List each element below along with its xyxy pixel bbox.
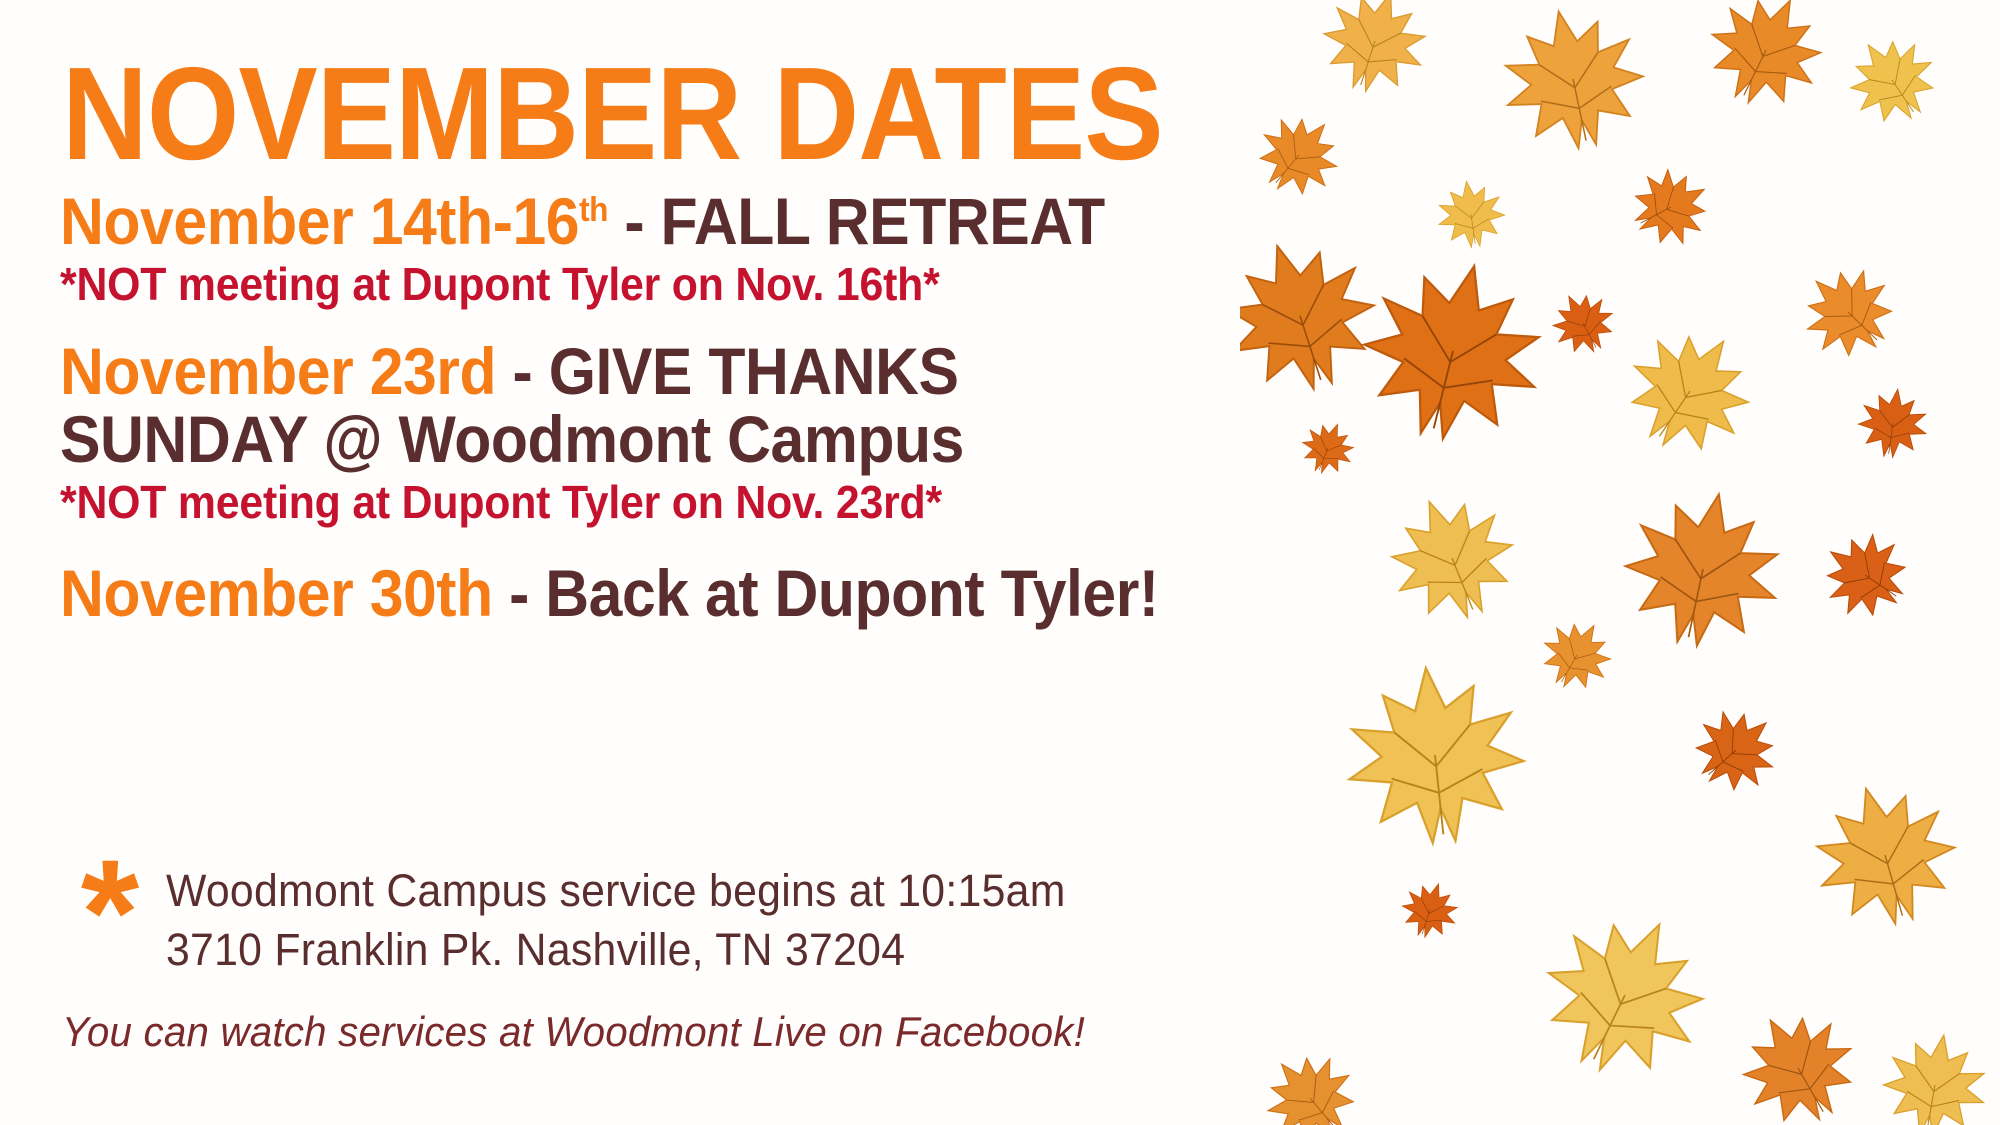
asterisk-icon: * — [62, 866, 158, 959]
event-2-date: November 23rd — [60, 334, 496, 408]
maple-leaf-icon — [1538, 278, 1627, 367]
footnote-line-2: 3710 Franklin Pk. Nashville, TN 37204 — [166, 921, 1066, 980]
maple-leaf-icon — [1366, 472, 1538, 644]
maple-leaf-icon — [1803, 513, 1928, 638]
maple-leaf-icon — [1828, 16, 1956, 144]
event-2-description-line2: SUNDAY @ Woodmont Campus — [60, 406, 964, 474]
event-3-date: November 30th — [60, 556, 493, 630]
event-2-separator: - — [496, 334, 549, 408]
event-1-date: November 14th-16 — [60, 184, 579, 258]
event-3-description: Back at Dupont Tyler! — [545, 556, 1158, 630]
maple-leaf-icon — [1331, 651, 1540, 860]
maple-leaf-icon — [1392, 872, 1468, 948]
maple-leaf-icon — [1511, 881, 1738, 1108]
event-2-note: *NOT meeting at Dupont Tyler on Nov. 23r… — [60, 478, 974, 526]
poster-canvas: NOVEMBER DATES November 14th-16th - FALL… — [0, 0, 2000, 1125]
maple-leaf-icon — [1716, 986, 1880, 1125]
maple-leaf-icon — [1616, 152, 1727, 263]
event-3-separator: - — [493, 556, 546, 630]
event-2-headline: November 23rd - GIVE THANKS — [60, 338, 964, 406]
footnote-line-1: Woodmont Campus service begins at 10:15a… — [166, 862, 1066, 921]
maple-leaf-icon — [1674, 688, 1798, 812]
event-block-2: November 23rd - GIVE THANKS SUNDAY @ Woo… — [60, 338, 1043, 526]
event-block-1: November 14th-16th - FALL RETREAT *NOT m… — [60, 188, 1196, 308]
maple-leaf-icon — [1605, 471, 1802, 668]
maple-leaf-icon — [1430, 173, 1511, 254]
maple-leaf-icon — [1792, 762, 1978, 948]
announcement-content: NOVEMBER DATES November 14th-16th - FALL… — [0, 0, 1330, 1125]
page-title: NOVEMBER DATES — [62, 48, 1163, 180]
maple-leaf-icon — [1871, 1021, 1998, 1125]
maple-leaf-icon — [1686, 0, 1846, 130]
event-1-date-suffix: th — [579, 191, 608, 229]
footnote-block: * Woodmont Campus service begins at 10:1… — [62, 860, 1113, 979]
maple-leaf-icon — [1338, 236, 1568, 466]
footnote-lines: Woodmont Campus service begins at 10:15a… — [166, 862, 1113, 979]
maple-leaves-decoration — [1240, 0, 2000, 1125]
event-1-note: *NOT meeting at Dupont Tyler on Nov. 16t… — [60, 260, 1116, 308]
event-1-description: FALL RETREAT — [661, 184, 1105, 258]
maple-leaf-icon — [1780, 244, 1916, 380]
event-2-description: GIVE THANKS — [549, 334, 959, 408]
maple-leaf-icon — [1851, 381, 1935, 465]
maple-leaf-icon — [1484, 0, 1662, 168]
maple-leaf-icon — [1526, 604, 1627, 705]
event-block-3: November 30th - Back at Dupont Tyler! — [60, 560, 1254, 628]
footer-text: You can watch services at Woodmont Live … — [62, 1008, 1085, 1056]
maple-leaf-icon — [1600, 301, 1780, 481]
event-1-separator: - — [608, 184, 661, 258]
event-1-headline: November 14th-16th - FALL RETREAT — [60, 188, 1105, 256]
event-3-headline: November 30th - Back at Dupont Tyler! — [60, 560, 1159, 628]
